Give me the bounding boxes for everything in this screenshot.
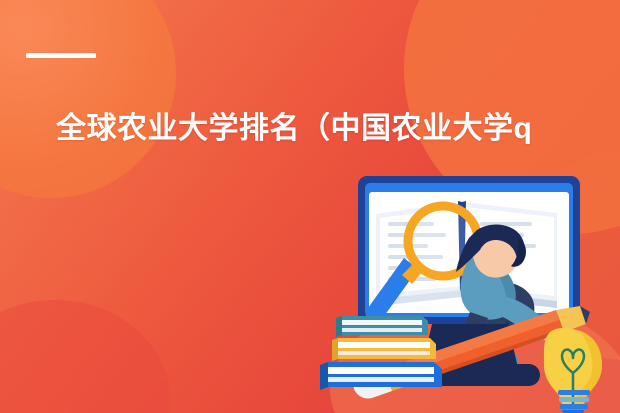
background-blob-left xyxy=(0,0,176,198)
idea-lightbulb xyxy=(544,328,602,413)
online-learning-illustration xyxy=(312,168,612,413)
stacked-books xyxy=(320,316,442,390)
page-title: 全球农业大学排名（中国农业大学q xyxy=(56,112,620,146)
background-blob-bottom-left xyxy=(0,300,170,413)
white-divider-rule xyxy=(26,53,96,58)
article-cover-banner: 全球农业大学排名（中国农业大学q xyxy=(0,0,620,413)
